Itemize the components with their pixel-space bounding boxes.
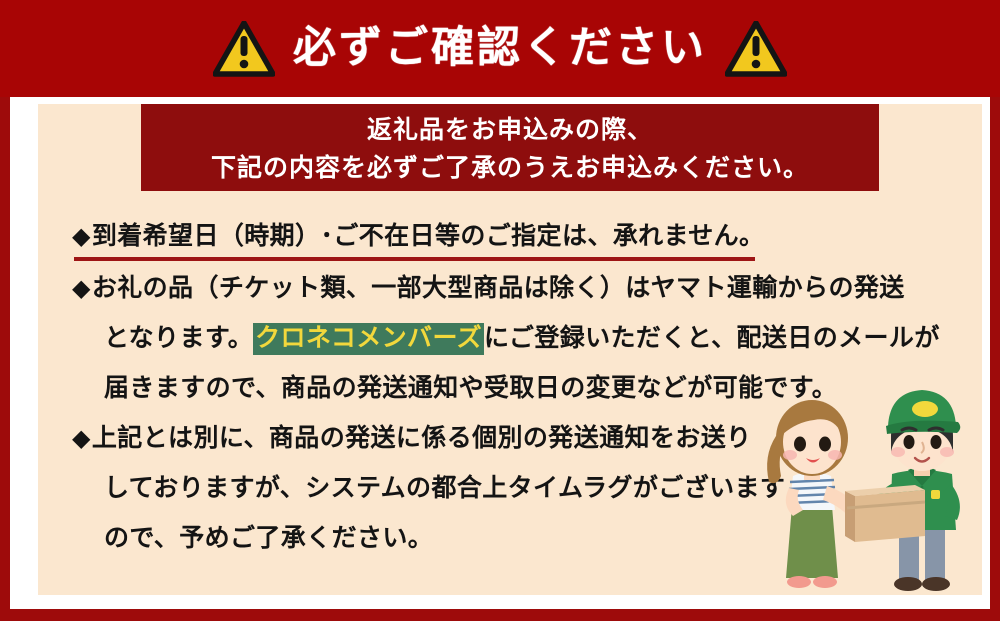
notice-line: ◆お礼の品（チケット類、一部大型商品は除く）はヤマト運輸からの発送 [72,263,972,313]
bullet-marker: ◆ [72,425,91,452]
notice-text: 上記とは別に、商品の発送に係る個別の発送通知をお送り [92,424,752,452]
notice-text: となります。 [104,324,253,352]
page-title: 必ずご確認ください [293,27,707,70]
notice-text: お礼の品（チケット類、一部大型商品は除く）はヤマト運輸からの発送 [92,274,905,302]
notice-item: ◆上記とは別に、商品の発送に係る個別の発送通知をお送り しておりますが、システム… [72,413,972,563]
notice-body-panel: 返礼品をお申込みの際、 下記の内容を必ずご了承のうえお申込みください。 ◆到着希… [38,104,982,595]
subbanner-line-2: 下記の内容を必ずご了承のうえお申込みください。 [211,149,809,187]
notice-line: となります。クロネコメンバーズにご登録いただくと、配送日のメールが [72,313,972,363]
notice-card: 必ずご確認ください 返礼品をお申込みの際、 下記の内容を必ずご了承のうえお申込み… [0,0,1000,621]
notice-line: しておりますが、システムの都合上タイムラグがございます [72,463,972,513]
subbanner: 返礼品をお申込みの際、 下記の内容を必ずご了承のうえお申込みください。 [141,104,879,191]
warning-triangle-icon-right [725,21,787,77]
notice-text: しておりますが、システムの都合上タイムラグがございます [104,474,785,502]
notice-item: ◆お礼の品（チケット類、一部大型商品は除く）はヤマト運輸からの発送 となります。… [72,263,972,413]
notice-text: ので、予めご了承ください。 [104,524,433,552]
kuroneko-members-highlight[interactable]: クロネコメンバーズ [253,323,484,355]
warning-triangle-icon-left [213,21,275,77]
warning-triangle-icon [213,21,275,77]
notice-line: 届きますので、商品の発送通知や受取日の変更などが可能です。 [72,363,972,413]
notice-line: ◆上記とは別に、商品の発送に係る個別の発送通知をお送り [72,413,972,463]
notice-item: ◆到着希望日（時期）･ご不在日等のご指定は、承れません。 [72,211,972,261]
notice-list: ◆到着希望日（時期）･ご不在日等のご指定は、承れません。 ◆お礼の品（チケット類… [72,211,972,563]
warning-triangle-icon [725,21,787,77]
notice-line: ◆到着希望日（時期）･ご不在日等のご指定は、承れません。 [72,211,972,261]
notice-text: にご登録いただくと、配送日のメールが [484,324,940,352]
notice-text: 到着希望日（時期）･ご不在日等のご指定は、承れません。 [92,222,765,250]
bullet-marker: ◆ [72,223,91,250]
notice-line: ので、予めご了承ください。 [72,513,972,563]
header-banner: 必ずご確認ください [0,0,1000,97]
subbanner-line-1: 返礼品をお申込みの際、 [367,111,653,149]
notice-text: 届きますので、商品の発送通知や受取日の変更などが可能です。 [104,374,837,402]
bullet-marker: ◆ [72,275,91,302]
